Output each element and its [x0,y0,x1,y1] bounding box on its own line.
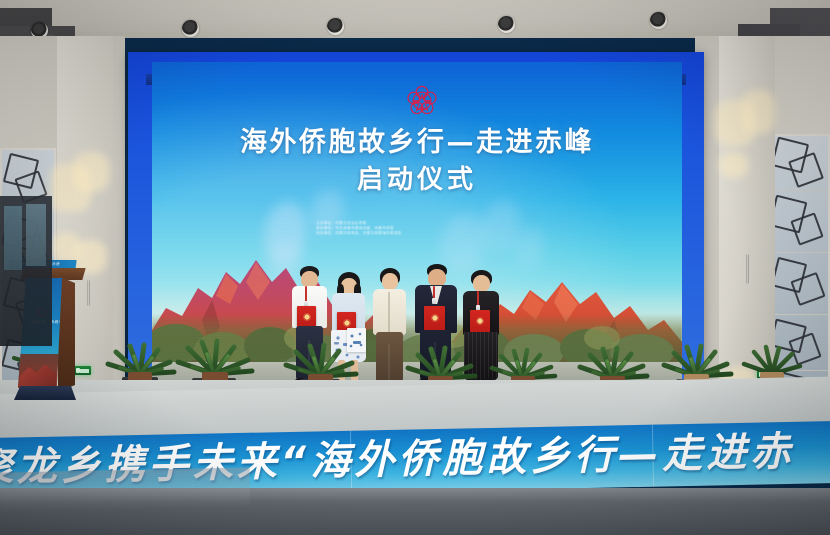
downlight-icon [327,18,344,35]
led-title-line2: 启动仪式 [152,164,682,197]
head [382,273,398,290]
name-badge [432,298,436,304]
led-title: 海外侨胞故乡行—走进赤峰 启动仪式 [152,126,682,197]
lanyard [305,286,307,302]
downlight-icon [650,12,667,29]
led-title-line1: 海外侨胞故乡行—走进赤峰 [152,126,682,160]
podium-base [14,386,76,400]
stage-potted-plants [0,318,830,388]
head [473,275,490,292]
led-credit-line: 协办单位：内蒙古侨商会、内蒙古侨联海外联谊会 [316,231,566,236]
lanyard [477,291,479,306]
ceiling-band [0,0,830,38]
doorway-glass-pane [4,206,22,270]
downlight-icon [182,20,199,37]
conference-stage-photograph: 海外侨胞故乡行—走进赤峰 启动仪式 主办单位：内蒙古自治区侨联 承办单位：中共赤… [0,0,830,535]
floor-light-patch [0,467,250,512]
overseas-chinese-federation-emblem-icon [405,84,439,118]
doorway-glass-pane [26,204,46,266]
led-credits-block: 主办单位：内蒙古自治区侨联 承办单位：中共赤峰市委统战部、赤峰市侨联 协办单位：… [316,221,566,236]
downlight-icon [498,16,515,33]
